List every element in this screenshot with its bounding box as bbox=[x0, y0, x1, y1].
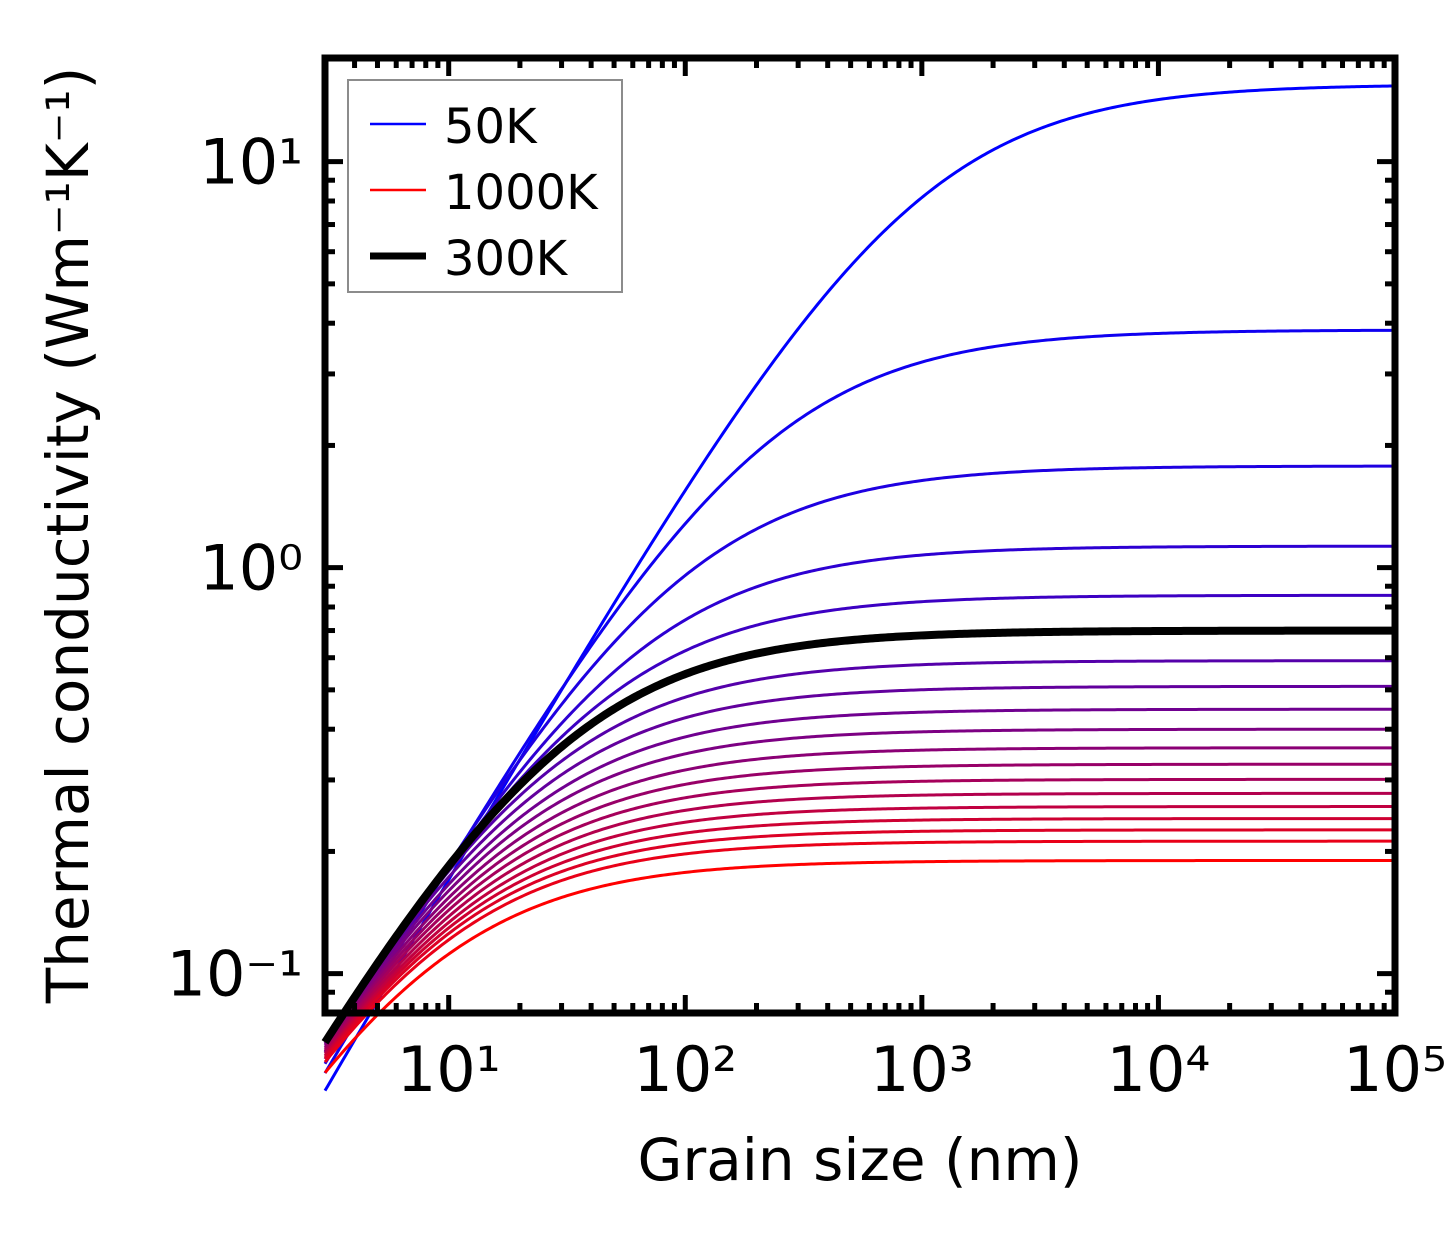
x-tick-label: 10¹ bbox=[397, 1033, 501, 1106]
thermal-conductivity-chart: Thermal conductivity (Wm⁻¹K⁻¹) Grain siz… bbox=[0, 0, 1454, 1254]
x-axis-title: Grain size (nm) bbox=[637, 1126, 1082, 1194]
curve-100K bbox=[325, 330, 1395, 1073]
curve-900K bbox=[325, 841, 1395, 1062]
legend-label-50K: 50K bbox=[444, 99, 538, 155]
y-axis-title: Thermal conductivity (Wm⁻¹K⁻¹) bbox=[34, 67, 102, 1005]
curve-450K bbox=[325, 709, 1395, 1043]
figure-canvas: Thermal conductivity (Wm⁻¹K⁻¹) Grain siz… bbox=[0, 0, 1454, 1254]
x-tick-label: 10⁵ bbox=[1343, 1033, 1447, 1106]
x-tick-label: 10³ bbox=[870, 1033, 974, 1106]
legend-label-1000K: 1000K bbox=[444, 165, 599, 221]
legend-label-300K: 300K bbox=[444, 231, 569, 287]
chart-legend[interactable]: 50K1000K300K bbox=[348, 80, 622, 292]
x-tick-label: 10⁴ bbox=[1107, 1033, 1211, 1106]
y-tick-label: 10¹ bbox=[199, 126, 303, 199]
y-tick-label: 10⁻¹ bbox=[167, 938, 303, 1011]
x-tick-label: 10² bbox=[633, 1033, 737, 1106]
curve-350K bbox=[325, 661, 1395, 1042]
curve-200K bbox=[325, 546, 1395, 1059]
y-tick-label: 10⁰ bbox=[199, 532, 303, 605]
